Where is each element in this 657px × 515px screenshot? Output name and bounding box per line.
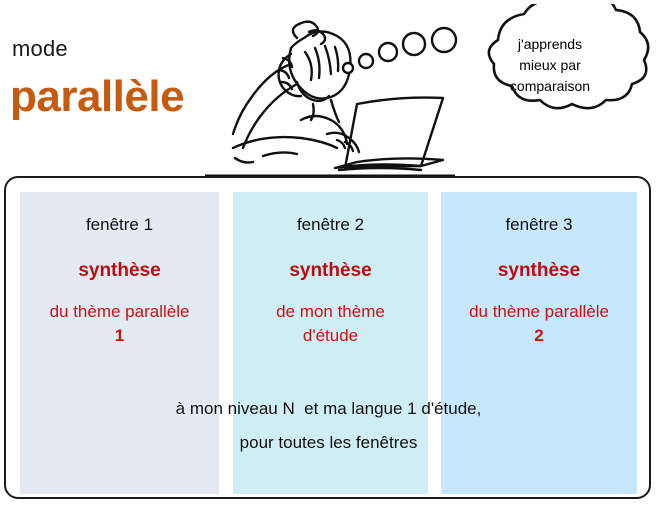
panel-1-synthesis: synthèse (20, 260, 219, 282)
panel-1-number: 1 (22, 324, 217, 348)
panel-3-subtitle-text: du thème parallèle (469, 302, 609, 321)
panel-fenetre-3[interactable]: fenêtre 3 synthèse du thème parallèle 2 (441, 192, 637, 494)
panel-2-subtitle-text-2: d'étude (303, 326, 358, 345)
mode-label: mode (12, 36, 68, 62)
thought-line-3: comparaison (470, 76, 630, 97)
panel-fenetre-1[interactable]: fenêtre 1 synthèse du thème parallèle 1 (20, 192, 219, 494)
thought-bubble-text: j'apprends mieux par comparaison (470, 34, 630, 97)
panel-1-title: fenêtre 1 (20, 214, 219, 236)
mode-title: parallèle (10, 72, 184, 122)
panel-3-title: fenêtre 3 (441, 214, 637, 236)
panel-3-number: 2 (443, 324, 635, 348)
panel-2-synthesis: synthèse (233, 260, 428, 282)
panel-fenetre-2[interactable]: fenêtre 2 synthèse de mon thème d'étude (233, 192, 428, 494)
panel-2-title: fenêtre 2 (233, 214, 428, 236)
thought-line-2: mieux par (470, 55, 630, 76)
thought-line-1: j'apprends (470, 34, 630, 55)
panel-3-synthesis: synthèse (441, 260, 637, 282)
panel-2-subtitle-text: de mon thème (276, 302, 385, 321)
panel-1-subtitle: du thème parallèle 1 (20, 300, 219, 348)
panels-group: fenêtre 1 synthèse du thème parallèle 1 … (20, 192, 637, 494)
panel-3-subtitle: du thème parallèle 2 (441, 300, 637, 348)
panel-1-subtitle-text: du thème parallèle (50, 302, 190, 321)
panel-2-subtitle: de mon thème d'étude (233, 300, 428, 348)
diagram-canvas: mode parallèle (0, 0, 657, 515)
